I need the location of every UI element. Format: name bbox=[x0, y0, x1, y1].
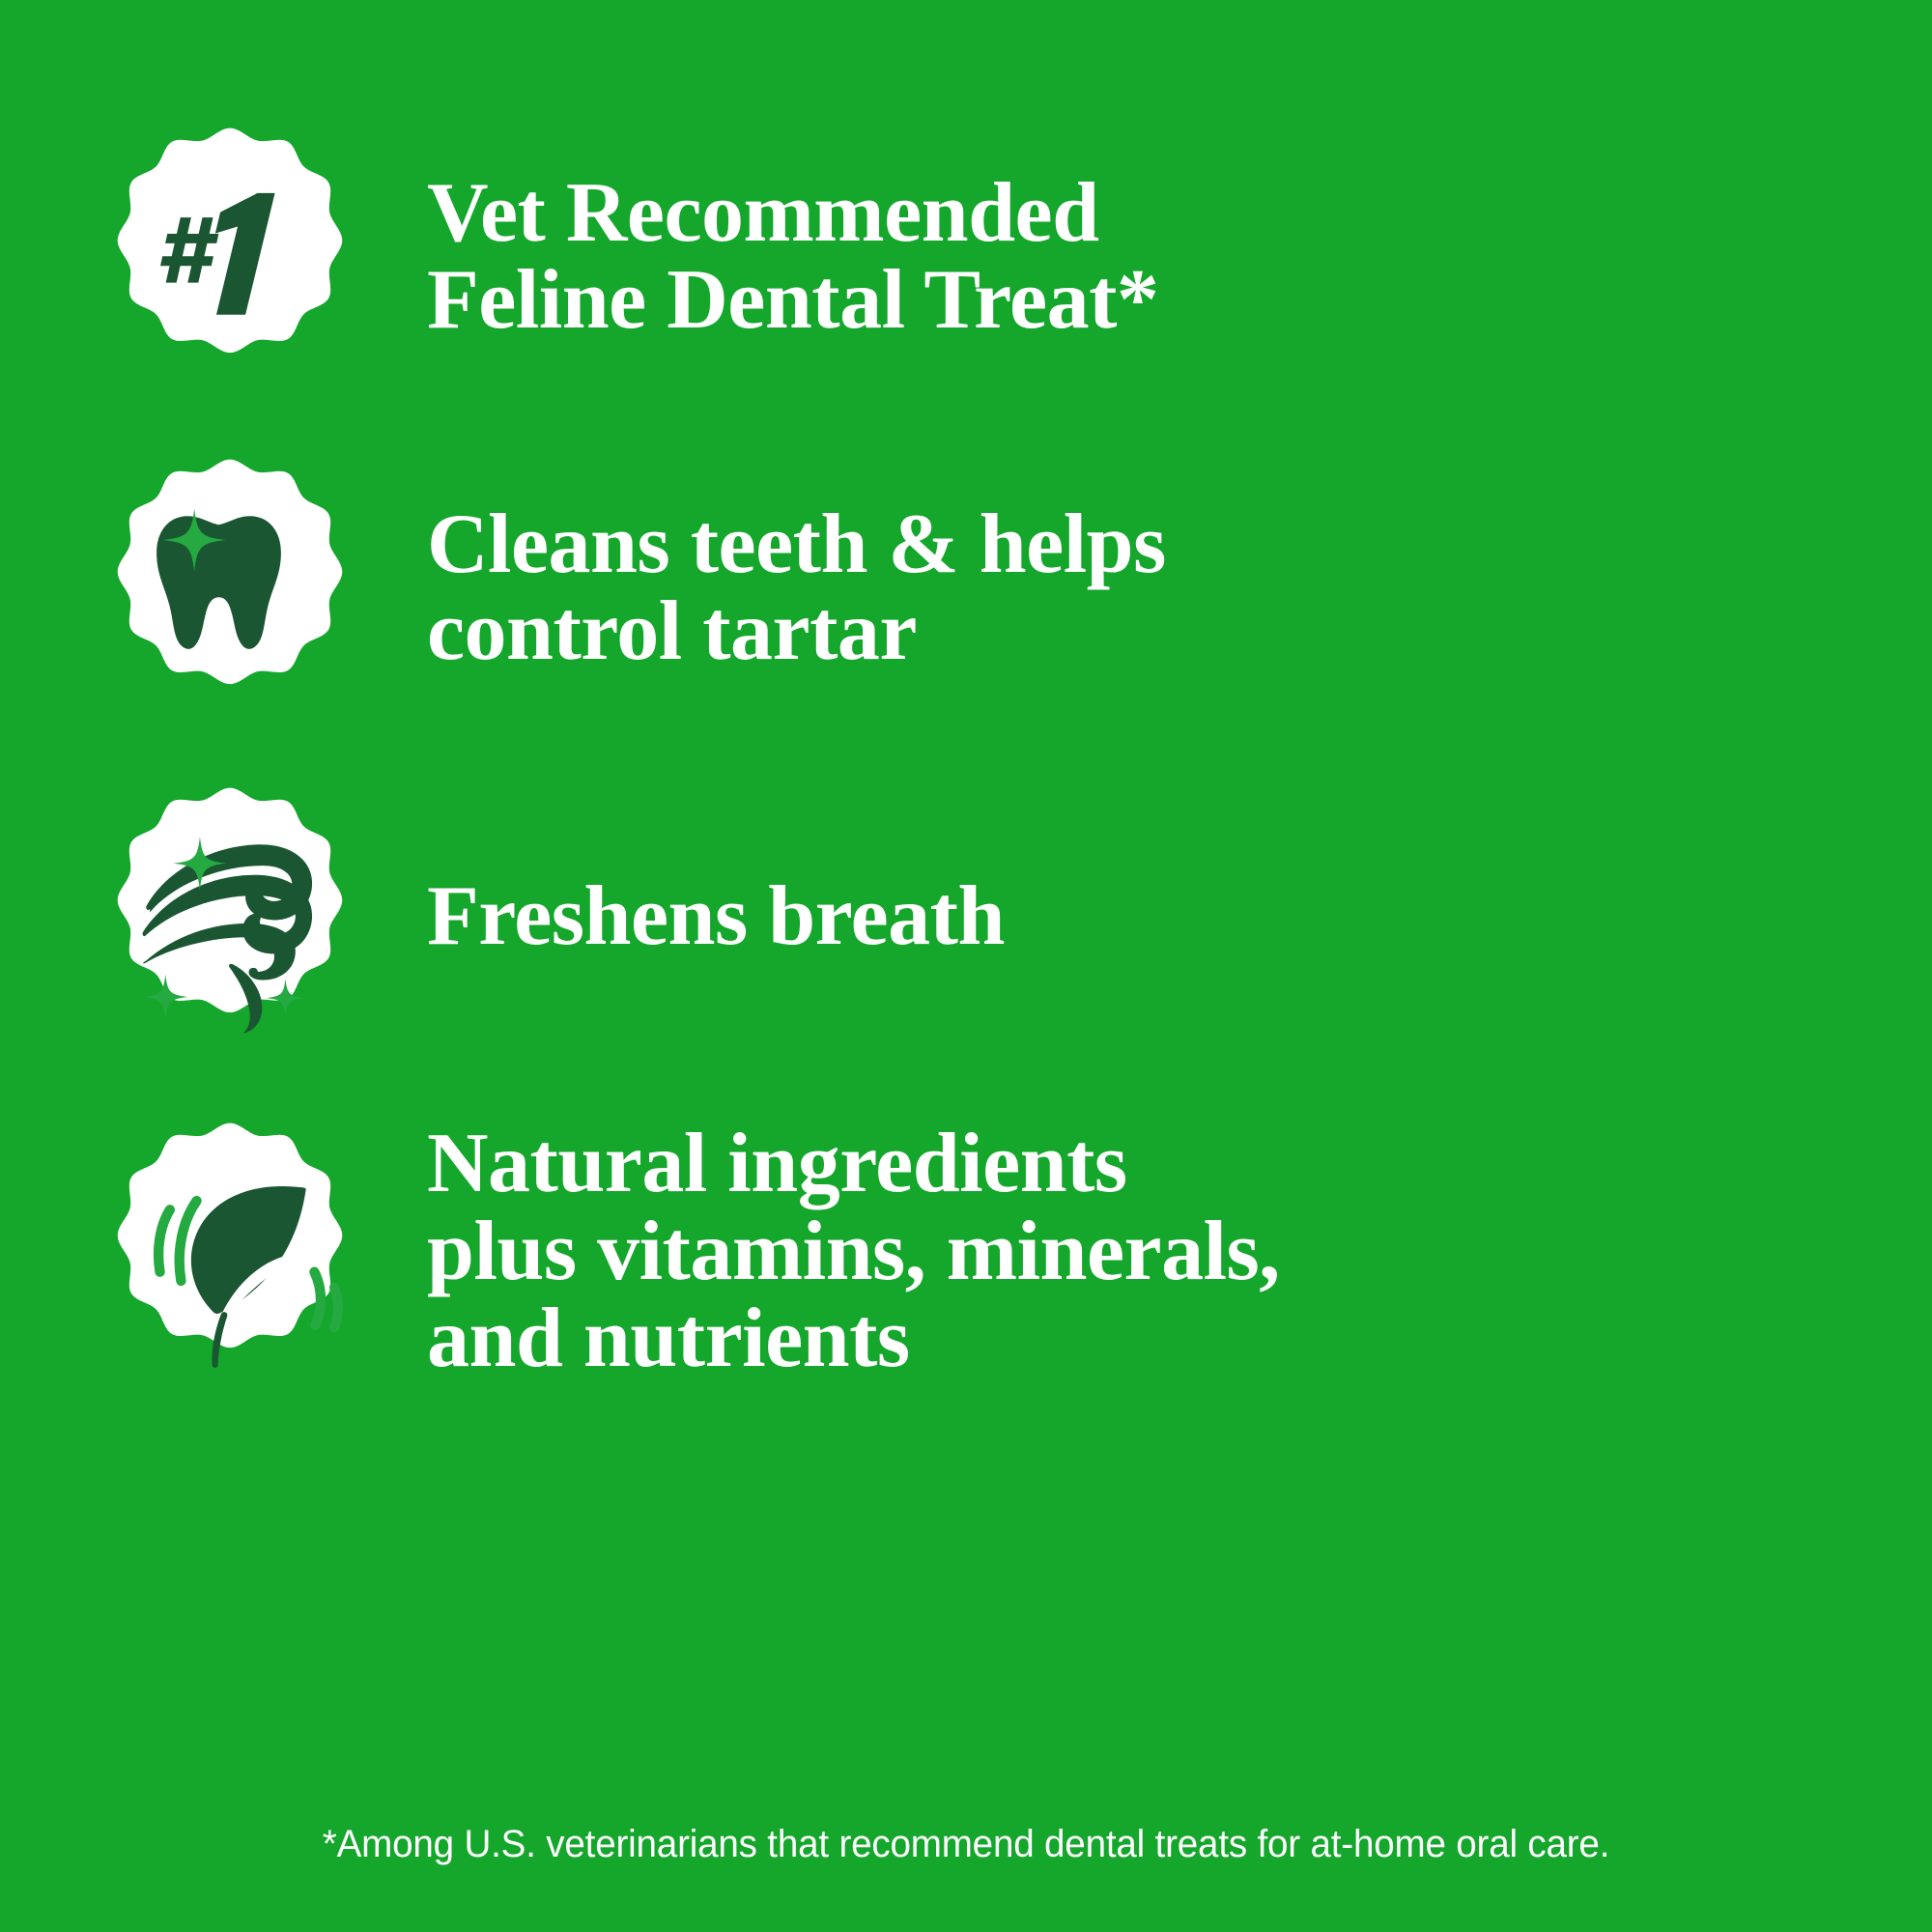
benefit-text-vet-recommended: Vet Recommended Feline Dental Treat* bbox=[427, 170, 1932, 344]
benefit-item-freshens-breath: Freshens breath bbox=[0, 754, 1932, 1078]
benefit-text-natural-ingredients: Natural ingredients plus vitamins, miner… bbox=[427, 1121, 1932, 1383]
benefit-line: plus vitamins, minerals, bbox=[427, 1208, 1932, 1296]
benefit-line: Vet Recommended bbox=[427, 170, 1932, 257]
benefit-item-natural-ingredients: Natural ingredients plus vitamins, miner… bbox=[0, 1078, 1932, 1426]
benefit-text-cleans-teeth: Cleans teeth & helps control tartar bbox=[427, 501, 1932, 675]
number-one-badge-icon bbox=[97, 124, 363, 390]
benefit-item-vet-recommended: Vet Recommended Feline Dental Treat* bbox=[0, 93, 1932, 421]
sparkling-tooth-icon bbox=[97, 455, 363, 722]
natural-leaf-icon bbox=[97, 1119, 363, 1385]
benefits-list: Vet Recommended Feline Dental Treat* Cle… bbox=[0, 0, 1932, 1426]
benefit-item-cleans-teeth: Cleans teeth & helps control tartar bbox=[0, 421, 1932, 754]
fresh-breath-wind-icon bbox=[97, 783, 363, 1050]
benefit-line: control tartar bbox=[427, 588, 1932, 675]
promo-panel: Vet Recommended Feline Dental Treat* Cle… bbox=[0, 0, 1932, 1932]
benefit-line: and nutrients bbox=[427, 1295, 1932, 1383]
benefit-line: Freshens breath bbox=[427, 873, 1932, 960]
benefit-line: Feline Dental Treat* bbox=[427, 257, 1932, 344]
footnote-disclaimer: *Among U.S. veterinarians that recommend… bbox=[34, 1823, 1898, 1866]
benefit-line: Natural ingredients bbox=[427, 1121, 1932, 1208]
benefit-line: Cleans teeth & helps bbox=[427, 501, 1932, 588]
benefit-text-freshens-breath: Freshens breath bbox=[427, 873, 1932, 960]
